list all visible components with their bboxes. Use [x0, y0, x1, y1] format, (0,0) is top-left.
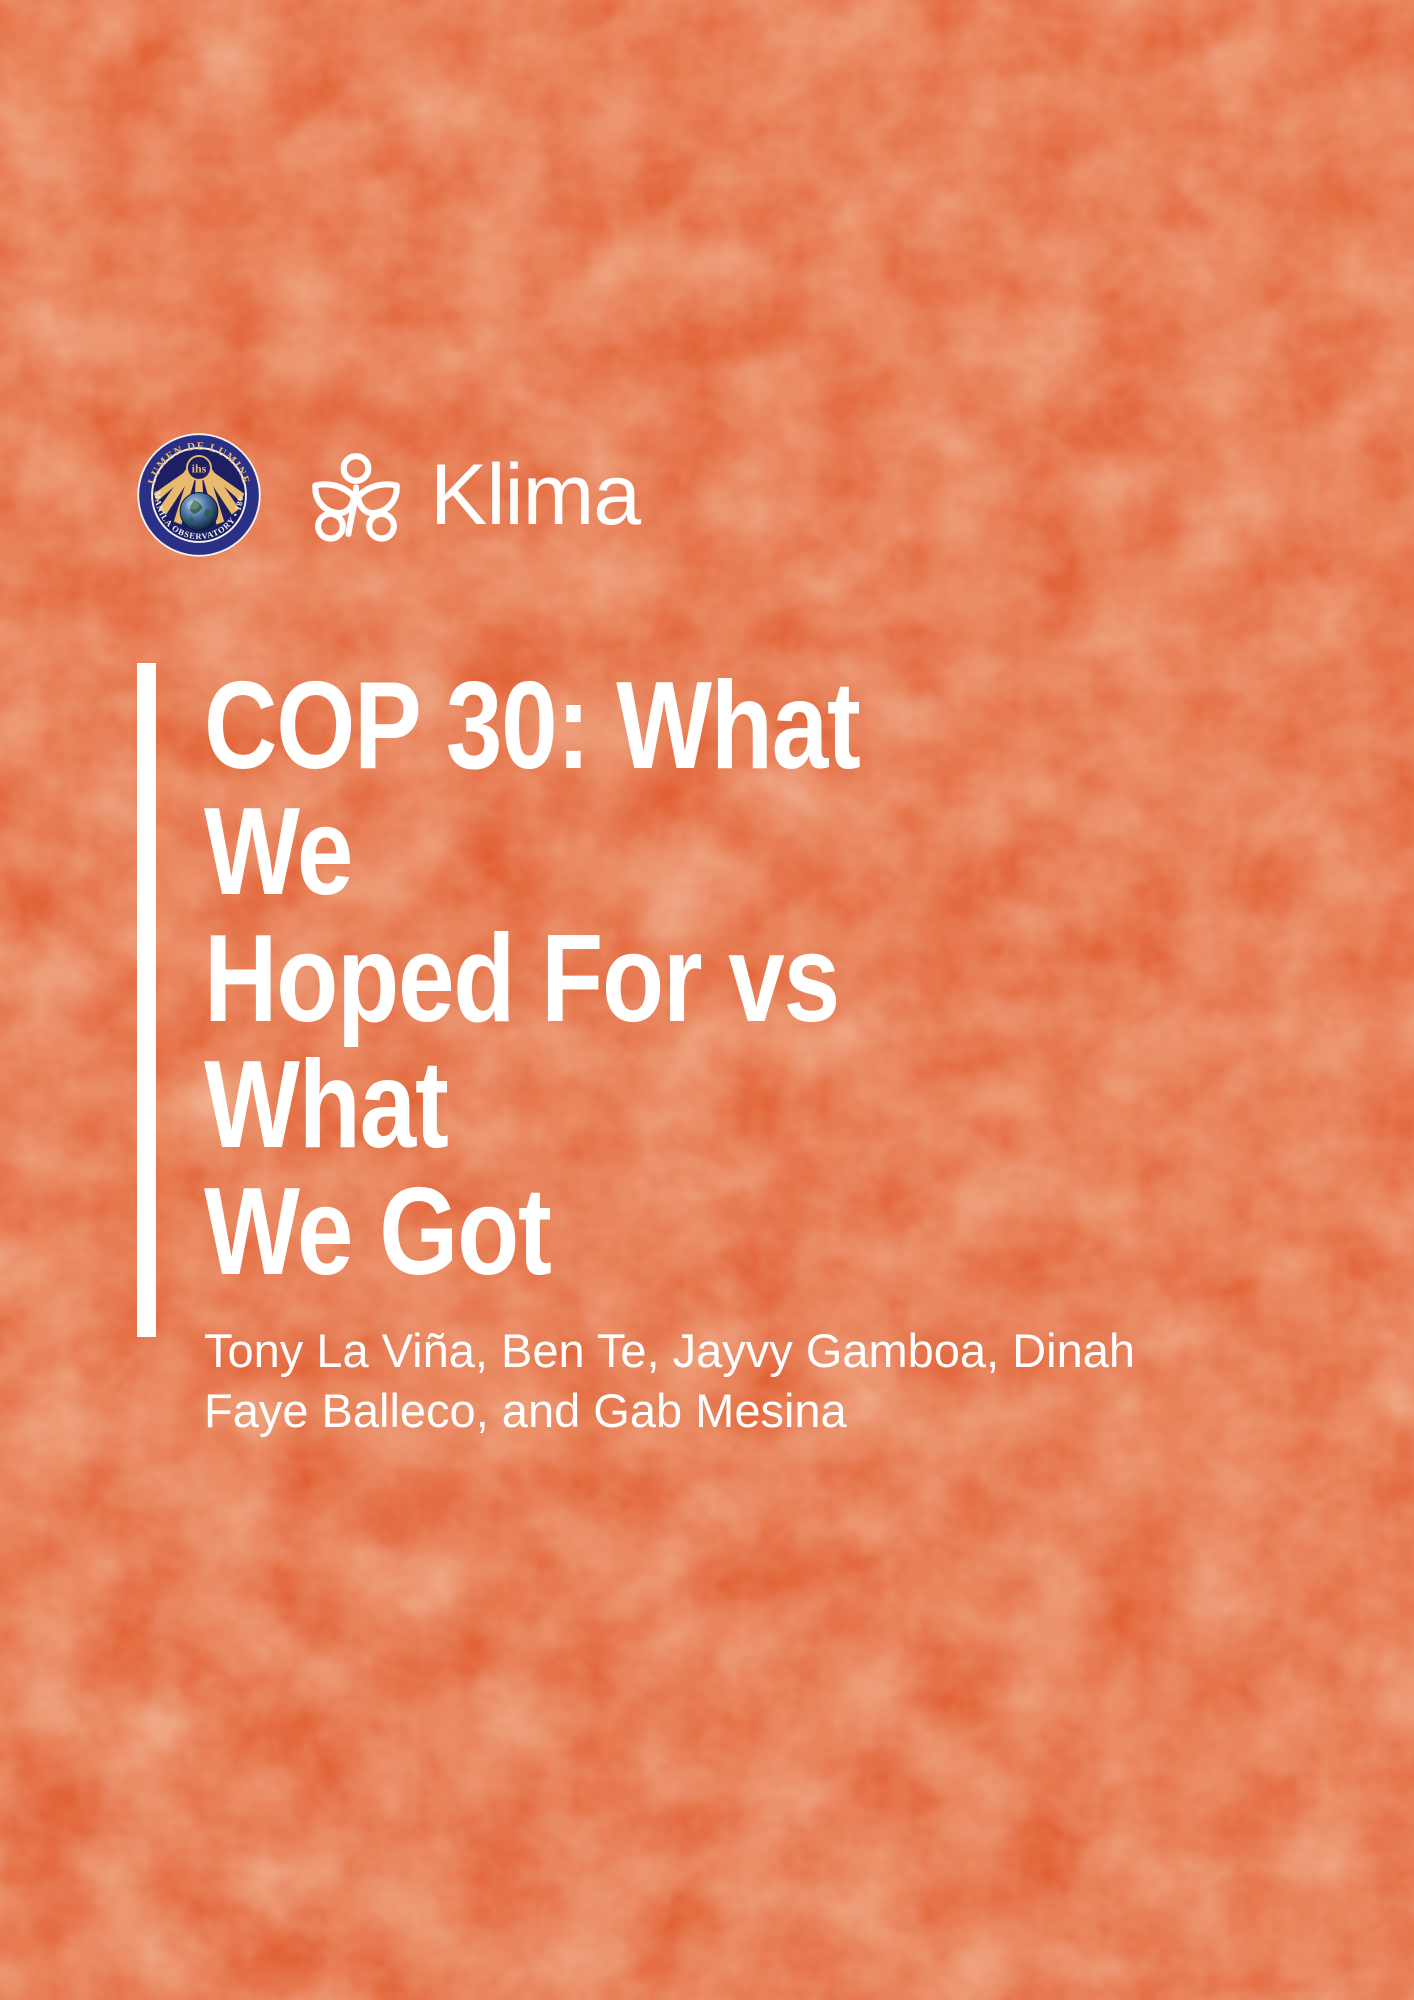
- klima-wordmark: Klima: [430, 452, 640, 538]
- cover-page: ihs LUMEN DE LUMINE MANILA OBSERVATORY •…: [0, 0, 1414, 2000]
- svg-text:ihs: ihs: [192, 461, 207, 475]
- manila-observatory-seal-icon: ihs LUMEN DE LUMINE MANILA OBSERVATORY •…: [136, 432, 262, 558]
- brand-lockup-row: ihs LUMEN DE LUMINE MANILA OBSERVATORY •…: [136, 424, 640, 566]
- title-accent-bar: [137, 663, 156, 1337]
- klima-lockup: Klima: [304, 443, 640, 547]
- page-title: COP 30: What We Hoped For vs What We Got: [204, 663, 1032, 1295]
- klima-plant-person-icon: [304, 443, 408, 547]
- title-block: COP 30: What We Hoped For vs What We Got…: [204, 663, 1214, 1440]
- author-list: Tony La Viña, Ben Te, Jayvy Gamboa, Dina…: [204, 1321, 1184, 1439]
